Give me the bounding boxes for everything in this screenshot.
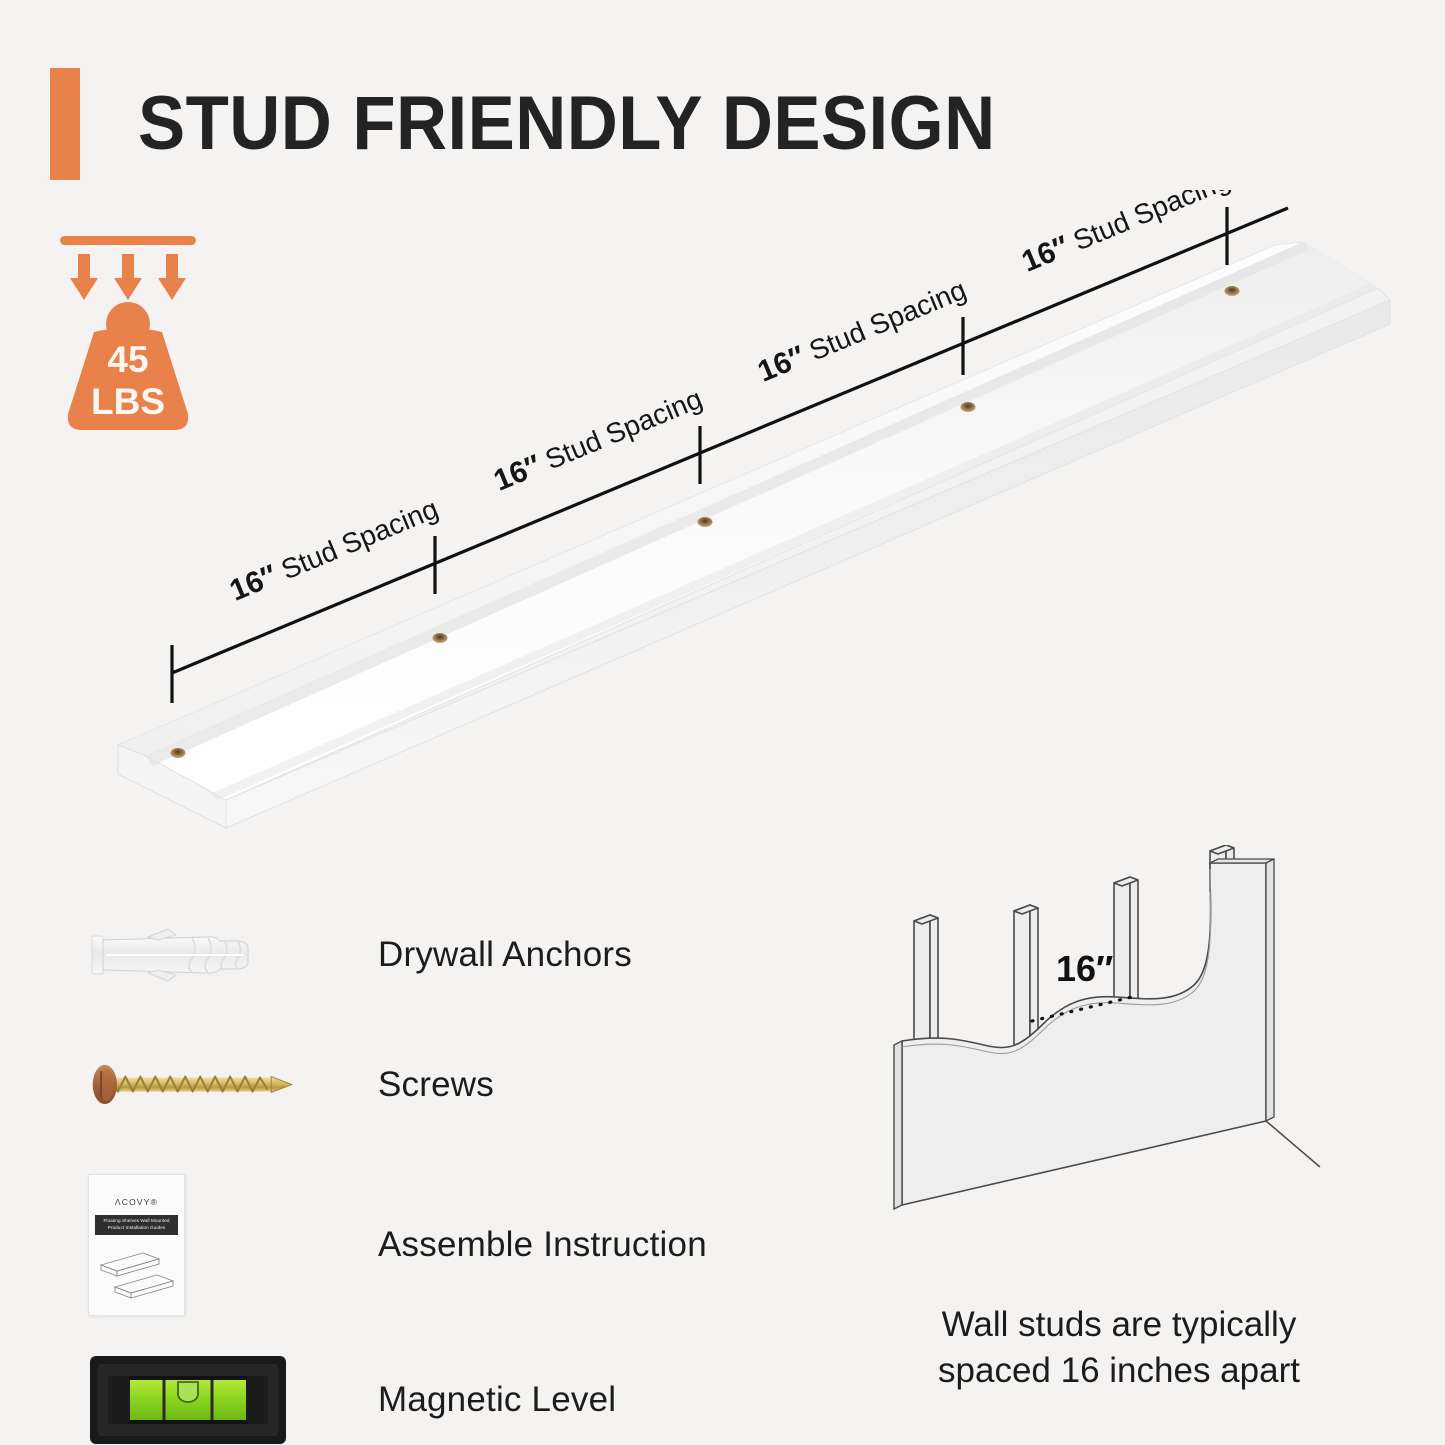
accessory-label: Magnetic Level <box>378 1380 616 1420</box>
wall-stud-diagram: 16″ <box>880 845 1350 1265</box>
caption-line-2: spaced 16 inches apart <box>884 1348 1354 1394</box>
accessory-list: Drywall Anchors <box>88 905 808 1445</box>
accessory-item-assemble-instruction: ΛCOVY® Floating Shelves Wall Mounted Pro… <box>88 1165 808 1325</box>
shelf-illustration: 16″ Stud Spacing 16″ Stud Spacing 16″ St… <box>60 190 1400 840</box>
drywall-anchor-icon <box>88 924 303 986</box>
accessory-item-screws: Screws <box>88 1035 808 1135</box>
accent-bar <box>50 68 80 180</box>
booklet-shelf-drawing <box>97 1247 177 1302</box>
booklet-title-line1: Floating Shelves Wall Mounted <box>98 1218 175 1225</box>
caption-line-1: Wall studs are typically <box>884 1302 1354 1348</box>
accessory-label: Screws <box>378 1065 494 1105</box>
accessory-item-drywall-anchors: Drywall Anchors <box>88 905 808 1005</box>
accessory-label: Assemble Instruction <box>378 1225 707 1265</box>
booklet-cover: ΛCOVY® Floating Shelves Wall Mounted Pro… <box>88 1174 185 1316</box>
drywall-panel <box>894 859 1274 1209</box>
page-header: STUD FRIENDLY DESIGN <box>50 68 1060 180</box>
booklet-title-line2: Product Installation Guides <box>98 1225 175 1232</box>
shelf-product <box>118 242 1390 828</box>
wall-diagram-caption: Wall studs are typically spaced 16 inche… <box>884 1302 1354 1394</box>
booklet-brand: ΛCOVY® <box>89 1197 184 1207</box>
infographic-page: STUD FRIENDLY DESIGN 45 LBS <box>0 0 1445 1445</box>
magnetic-level-icon <box>88 1350 303 1445</box>
accessory-item-magnetic-level: Magnetic Level <box>88 1345 808 1445</box>
stud-measure-label: 16″ <box>1056 948 1113 989</box>
page-title: STUD FRIENDLY DESIGN <box>138 86 996 162</box>
instruction-booklet-icon: ΛCOVY® Floating Shelves Wall Mounted Pro… <box>88 1174 303 1316</box>
screw-icon <box>88 1056 303 1114</box>
accessory-label: Drywall Anchors <box>378 935 632 975</box>
booklet-title-band: Floating Shelves Wall Mounted Product In… <box>95 1215 178 1235</box>
